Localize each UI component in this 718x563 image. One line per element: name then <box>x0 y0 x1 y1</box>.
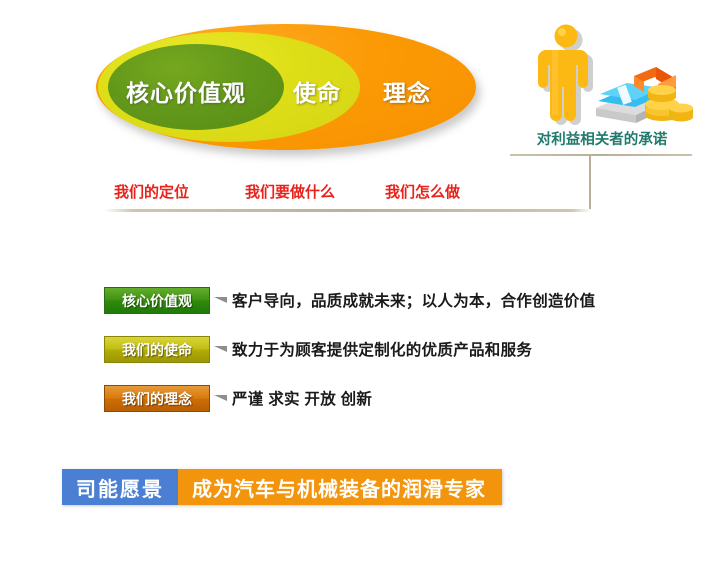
arrow-icon <box>214 395 227 407</box>
vision-values-infographic: 核心价值观 使命 理念 <box>0 0 718 563</box>
question-label-positioning: 我们的定位 <box>114 181 189 202</box>
value-tag-mission: 我们的使命 <box>104 336 210 363</box>
vision-statement: 成为汽车与机械装备的润滑专家 <box>178 469 502 505</box>
person-with-money-icon <box>508 22 694 130</box>
value-tag-core-values: 核心价值观 <box>104 287 210 314</box>
connector-line-horizontal-top <box>510 154 692 156</box>
connector-line-vertical <box>589 155 591 211</box>
ellipse-label-core-values: 核心价值观 <box>126 74 246 108</box>
vision-tag-label: 司能愿景 <box>62 469 178 505</box>
horizontal-divider-rule <box>104 209 591 212</box>
ellipse-label-mission: 使命 <box>293 74 341 108</box>
stakeholder-caption: 对利益相关者的承诺 <box>514 128 690 149</box>
ellipse-label-philosophy: 理念 <box>383 74 431 108</box>
question-label-what-we-do: 我们要做什么 <box>245 181 335 202</box>
value-text-philosophy: 严谨 求实 开放 创新 <box>232 387 372 409</box>
question-label-how-we-do: 我们怎么做 <box>385 181 460 202</box>
stakeholder-commitment-block: 对利益相关者的承诺 <box>508 22 694 162</box>
arrow-icon <box>214 346 227 358</box>
vision-banner: 司能愿景 成为汽车与机械装备的润滑专家 <box>62 469 502 505</box>
arrow-icon <box>214 297 227 309</box>
value-text-core-values: 客户导向，品质成就未来；以人为本，合作创造价值 <box>232 289 595 311</box>
nested-ellipse-diagram: 核心价值观 使命 理念 <box>88 18 484 158</box>
value-tag-philosophy: 我们的理念 <box>104 385 210 412</box>
value-text-mission: 致力于为顾客提供定制化的优质产品和服务 <box>232 338 532 360</box>
